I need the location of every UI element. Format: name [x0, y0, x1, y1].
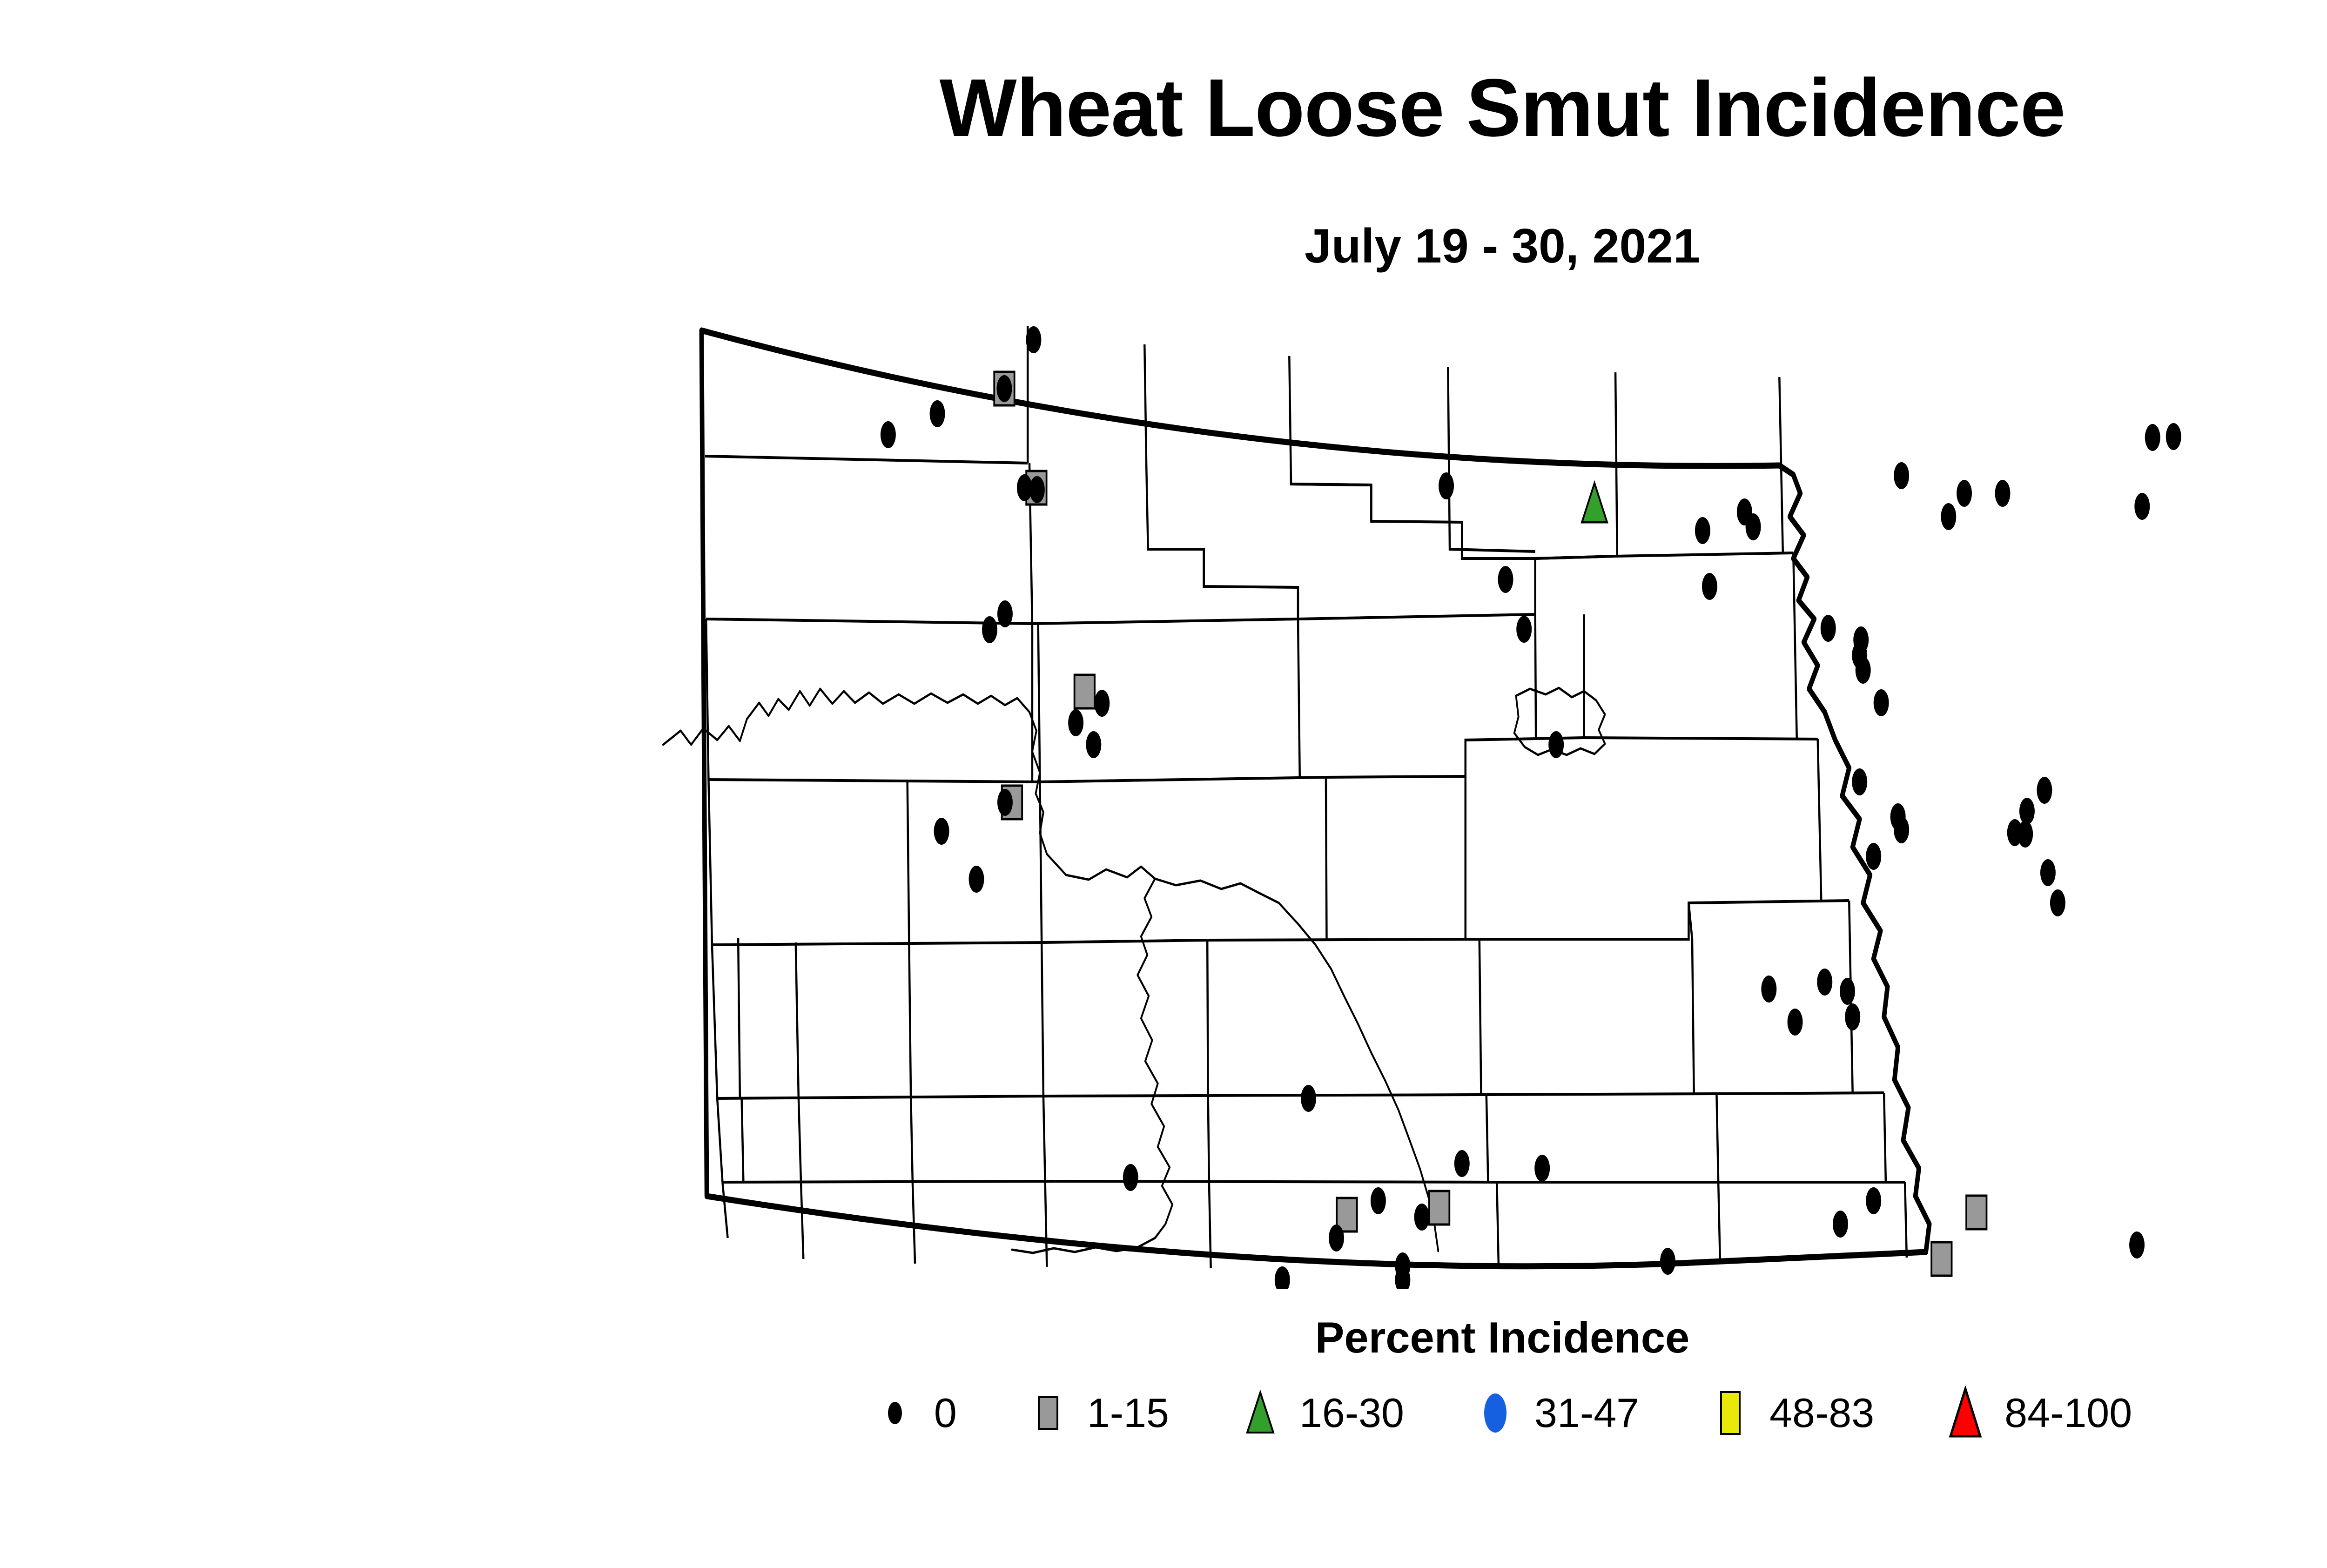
point-marker-zero — [1894, 816, 1909, 843]
point-marker-zero — [997, 789, 1013, 816]
point-marker-triangle — [1582, 483, 1607, 522]
state-outline — [701, 330, 1929, 1266]
point-marker-zero — [1788, 1009, 1803, 1036]
legend-label-4: 48-83 — [1769, 1389, 1874, 1437]
point-marker-zero — [1840, 978, 1855, 1005]
yellow-square-icon — [1708, 1391, 1753, 1435]
map-page: Wheat Loose Smut Incidence July 19 - 30,… — [0, 0, 2327, 1568]
point-marker-zero — [2040, 859, 2056, 886]
point-marker-zero — [1821, 615, 1836, 642]
point-marker-zero — [930, 400, 945, 427]
point-marker-square — [1075, 675, 1095, 708]
point-marker-zero — [2145, 424, 2160, 451]
point-marker-zero — [1094, 690, 1110, 717]
point-marker-zero — [881, 421, 896, 448]
point-marker-zero — [1660, 1248, 1675, 1275]
point-marker-zero — [2018, 821, 2033, 848]
point-marker-zero — [1029, 476, 1045, 503]
point-marker-zero — [1371, 1187, 1386, 1214]
point-marker-zero — [1026, 326, 1041, 353]
point-marker-zero — [934, 818, 949, 845]
point-marker-zero — [1123, 1164, 1138, 1191]
point-marker-zero — [969, 866, 984, 893]
point-marker-zero — [1695, 517, 1710, 544]
black-dot-icon — [873, 1391, 917, 1435]
point-marker-zero — [1329, 1225, 1344, 1252]
point-marker-zero — [997, 600, 1013, 627]
point-marker-zero — [1833, 1211, 1848, 1238]
legend-item-3[interactable]: 31-47 — [1473, 1389, 1639, 1437]
legend-label-5: 84-100 — [2004, 1389, 2132, 1437]
point-marker-zero — [1957, 480, 1972, 507]
point-marker-zero — [1275, 1266, 1290, 1289]
point-marker-zero — [1866, 1187, 1881, 1214]
legend-label-3: 31-47 — [1534, 1389, 1639, 1437]
point-marker-zero — [1746, 513, 1761, 540]
point-marker-zero — [1852, 768, 1867, 795]
point-marker-zero — [1534, 1155, 1550, 1182]
incidence-points — [881, 326, 2184, 1289]
point-marker-zero — [1761, 976, 1776, 1003]
point-marker-zero — [1894, 462, 1909, 489]
point-marker-zero — [1414, 1204, 1430, 1231]
legend-label-0: 0 — [934, 1389, 957, 1437]
point-marker-zero — [1068, 709, 1083, 736]
page-subtitle: July 19 - 30, 2021 — [0, 219, 2327, 274]
point-marker-zero — [1548, 731, 1564, 758]
point-marker-zero — [982, 616, 997, 643]
legend-item-1[interactable]: 1-15 — [1026, 1389, 1169, 1437]
point-marker-zero — [1454, 1150, 1470, 1177]
legend-label-2: 16-30 — [1299, 1389, 1404, 1437]
page-title: Wheat Loose Smut Incidence — [0, 65, 2327, 151]
legend-item-5[interactable]: 84-100 — [1943, 1389, 2132, 1437]
point-marker-zero — [1439, 472, 1454, 499]
point-marker-square — [1931, 1242, 1951, 1276]
red-triangle-icon — [1943, 1391, 1988, 1435]
point-marker-zero — [1856, 657, 1871, 684]
legend-item-0[interactable]: 0 — [873, 1389, 957, 1437]
point-marker-square — [1429, 1191, 1449, 1225]
point-marker-zero — [1845, 1003, 1860, 1030]
point-marker-zero — [1874, 689, 1889, 716]
point-marker-zero — [1995, 480, 2010, 507]
point-marker-zero — [2129, 1232, 2145, 1258]
legend-title: Percent Incidence — [0, 1312, 2327, 1363]
point-marker-zero — [2134, 493, 2150, 520]
gray-square-icon — [1026, 1391, 1070, 1435]
point-marker-zero — [2019, 798, 2035, 825]
green-triangle-icon — [1238, 1391, 1283, 1435]
point-marker-zero — [1941, 503, 1956, 530]
point-marker-zero — [1516, 616, 1532, 643]
point-marker-zero — [1866, 843, 1881, 870]
legend-label-1: 1-15 — [1087, 1389, 1169, 1437]
point-marker-square — [1966, 1196, 1986, 1229]
legend-item-2[interactable]: 16-30 — [1238, 1389, 1404, 1437]
point-marker-zero — [1817, 969, 1832, 996]
blue-circle-icon — [1473, 1391, 1518, 1435]
point-marker-zero — [1301, 1085, 1316, 1112]
point-marker-zero — [996, 375, 1012, 402]
legend-item-4[interactable]: 48-83 — [1708, 1389, 1874, 1437]
point-marker-zero — [1086, 731, 1101, 758]
point-marker-zero — [1498, 566, 1513, 593]
legend: 0 1-15 16-30 31-47 48-83 — [0, 1389, 2327, 1437]
point-marker-zero — [2050, 889, 2065, 916]
point-marker-zero — [2037, 777, 2052, 804]
point-marker-zero — [1702, 573, 1717, 600]
point-marker-zero — [2166, 423, 2181, 450]
north-dakota-map — [642, 298, 2327, 1289]
